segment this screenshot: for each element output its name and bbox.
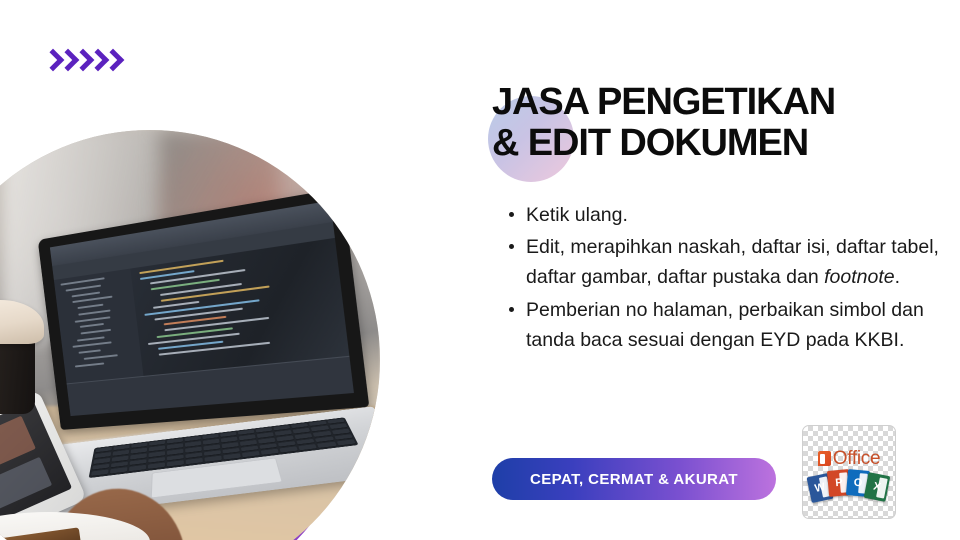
excel-icon: X bbox=[864, 472, 891, 502]
service-list: Ketik ulang. Edit, merapihkan naskah, da… bbox=[500, 200, 946, 357]
hero-photo bbox=[0, 130, 380, 540]
office-wordmark-text: Office bbox=[833, 448, 880, 469]
headline-line-1: JASA PENGETIKAN bbox=[492, 81, 835, 123]
list-item-text-tail: . bbox=[895, 266, 900, 288]
list-item: Ketik ulang. bbox=[526, 200, 946, 230]
headline-line-2: & EDIT DOKUMEN bbox=[492, 122, 808, 164]
office-logo-mark bbox=[818, 451, 831, 466]
list-item-emphasis: footnote bbox=[824, 266, 894, 288]
list-item-text: Pemberian no halaman, perbaikan simbol d… bbox=[526, 299, 924, 351]
chevron-right-icon bbox=[104, 48, 117, 74]
chevron-group bbox=[44, 48, 117, 74]
office-wordmark: Office bbox=[803, 448, 895, 470]
laptop bbox=[23, 193, 380, 518]
office-logo-badge: Office W P O X bbox=[802, 425, 896, 519]
coffee-cup bbox=[0, 300, 40, 410]
list-item: Pemberian no halaman, perbaikan simbol d… bbox=[526, 295, 946, 355]
chevron-right-icon bbox=[44, 48, 57, 74]
chevron-right-icon bbox=[89, 48, 102, 74]
poster-canvas: JASA PENGETIKAN& EDIT DOKUMEN Ketik ulan… bbox=[0, 0, 960, 540]
chevron-right-icon bbox=[74, 48, 87, 74]
list-item: Edit, merapihkan naskah, daftar isi, daf… bbox=[526, 232, 946, 292]
cta-button[interactable]: CEPAT, CERMAT & AKURAT bbox=[492, 458, 776, 500]
list-item-text: Ketik ulang. bbox=[526, 204, 628, 226]
chevron-right-icon bbox=[59, 48, 72, 74]
laptop-screen bbox=[49, 201, 353, 416]
photo-composition bbox=[0, 100, 410, 540]
page-title: JASA PENGETIKAN& EDIT DOKUMEN bbox=[492, 82, 922, 165]
office-app-icons: W P O X bbox=[807, 468, 891, 502]
